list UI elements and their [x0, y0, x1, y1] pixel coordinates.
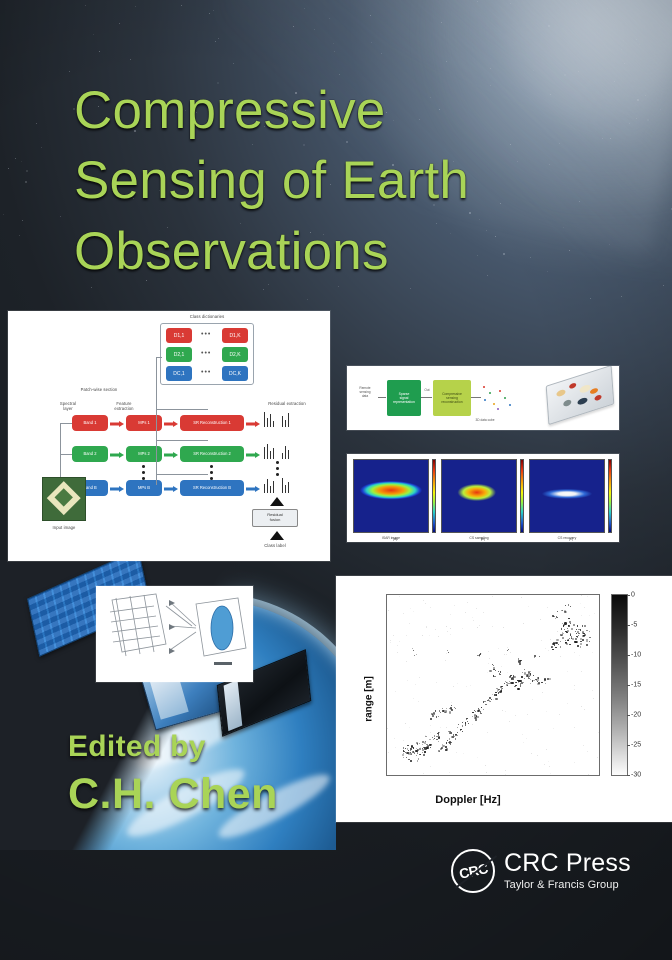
scatter-point: [509, 721, 510, 722]
scatter-point: [584, 709, 585, 710]
scatter-point: [446, 708, 447, 709]
x-tick-mark: [467, 775, 468, 776]
scatter-point: [420, 754, 421, 755]
scatter-point: [439, 732, 440, 733]
scatter-point: [455, 738, 456, 739]
scatter-point: [451, 736, 452, 737]
scatter-point: [594, 613, 595, 614]
flow-arrow-label: Out: [421, 388, 433, 392]
scatter-point: [458, 724, 459, 725]
scatter-point: [507, 672, 508, 673]
scatter-point: [541, 682, 542, 683]
arrow: [246, 452, 260, 457]
input-image-label: Input image: [36, 525, 92, 530]
colorbar-tick: -20: [631, 712, 641, 719]
scatter-point: [552, 615, 554, 617]
scatter-point: [436, 739, 437, 740]
section-label-residual: Residual extraction: [254, 401, 320, 406]
heatmap-group: CS recovery (c): [529, 459, 613, 533]
scatter-point: [449, 711, 451, 713]
scatter-point: [403, 740, 404, 741]
scatter-point: [457, 683, 458, 684]
scatter-point: [399, 596, 400, 597]
scatter-point: [574, 762, 575, 763]
arrow: [110, 486, 124, 491]
scatter-point: [532, 699, 533, 700]
scatter-point: [407, 680, 408, 681]
y-tick-mark: [386, 749, 387, 750]
scatter-point: [406, 757, 407, 758]
scatter-point: [475, 711, 476, 712]
scatter-point: [390, 642, 391, 643]
scatter-point: [408, 759, 409, 760]
scatter-point: [589, 637, 590, 638]
scatter-point: [562, 634, 563, 635]
scatter-point: [527, 714, 528, 715]
scatter-point: [422, 635, 423, 636]
arrow: [164, 486, 178, 491]
dict-cell: D1,1: [166, 328, 192, 343]
scatter-point: [430, 766, 431, 767]
flow-box-cs: Compressive sensing reconstruction: [433, 380, 471, 416]
scatter-point: [484, 701, 485, 702]
scatter-point: [430, 732, 431, 733]
scatter-point: [492, 694, 493, 695]
scatter-point: [575, 638, 577, 640]
y-tick-mark: [386, 698, 387, 699]
scatter-point: [441, 747, 443, 749]
scatter-point: [480, 713, 481, 714]
scatter-point: [534, 657, 535, 658]
scatter-point: [537, 679, 539, 681]
scatter-point: [423, 754, 425, 756]
scatter-point: [544, 681, 545, 682]
scatter-point: [414, 752, 415, 753]
scatter-point: [498, 648, 499, 649]
scatter-point: [576, 629, 577, 630]
scatter-point: [466, 718, 467, 719]
scatter-point: [578, 633, 579, 634]
scatter-point: [567, 628, 568, 629]
projection-geometry-drawing: [96, 586, 253, 682]
scatter-point: [504, 683, 505, 684]
scatter-point: [424, 751, 425, 752]
scatter-point: [445, 710, 447, 712]
scatter-point: [553, 728, 554, 729]
colorbar-tick: 0: [631, 592, 635, 599]
data-cube-visualization: [546, 366, 615, 425]
section-label-feature: Feature extraction: [100, 401, 148, 412]
scatter-point: [580, 629, 581, 630]
scatter-point: [541, 640, 542, 641]
scatter-point: [457, 732, 458, 733]
scatter-point: [523, 742, 524, 743]
scatter-point: [530, 683, 531, 684]
colorbar-tick: -25: [631, 742, 641, 749]
scatter-point: [449, 772, 450, 773]
scatter-point: [451, 705, 452, 706]
scatter-point: [569, 621, 570, 622]
connector-line: [156, 474, 208, 475]
y-tick-mark: [386, 775, 387, 776]
x-tick-mark: [573, 775, 574, 776]
scatter-point: [550, 639, 551, 640]
scatter-point: [395, 691, 396, 692]
scatter-point: [393, 635, 394, 636]
arrow: [421, 397, 432, 398]
colorbar-tick-mark: [627, 655, 630, 656]
scatter-point: [394, 738, 395, 739]
scatter-point: [485, 704, 486, 705]
ellipsis: •••: [201, 369, 211, 376]
scatter-point: [436, 717, 437, 718]
scatter-point: [477, 757, 478, 758]
scatter-point: [513, 678, 514, 679]
arrow: [378, 397, 386, 398]
colorbar-tick: -5: [631, 622, 637, 629]
class-dictionary-box: D1,1 D1,K ••• D2,1 D2,K ••• DC,1 DC,K ••…: [160, 323, 254, 385]
scatter-point: [440, 712, 441, 713]
scatter-point: [472, 724, 473, 725]
scatter-point: [500, 690, 502, 692]
heatmap-cs-sampling: CS sampling: [441, 459, 517, 533]
scatter-point: [537, 755, 538, 756]
projection-svg: [96, 586, 253, 682]
title-line-2: Sensing of Earth: [74, 146, 604, 216]
heatmap-row: ISAR image (a) CS sampling (b) CS recove…: [347, 454, 619, 542]
scatter-point: [449, 741, 451, 743]
scatter-point: [495, 670, 496, 671]
scatter-point: [547, 607, 548, 608]
x-axis-label: Doppler [Hz]: [336, 794, 600, 806]
scatter-point: [446, 653, 447, 654]
connector-line: [60, 454, 72, 455]
scatter-point: [450, 628, 451, 629]
scatter-point: [495, 692, 496, 693]
scatter-point: [592, 652, 593, 653]
scatter-point: [477, 716, 479, 718]
scatter-point: [467, 602, 468, 603]
scatter-point: [558, 644, 559, 645]
scatter-point: [570, 623, 571, 624]
scatter-point: [580, 603, 581, 604]
scatter-point: [503, 627, 504, 628]
publisher-name: CRC Press: [504, 851, 631, 876]
scatter-point: [570, 606, 571, 607]
panel-scatter-plot: range [m] -40-30-20-100102030-2002040 Do…: [336, 576, 672, 822]
scatter-point: [399, 641, 400, 642]
scatter-point: [480, 711, 481, 712]
scatter-point: [422, 744, 423, 745]
scatter-point: [568, 639, 569, 640]
scatter-point: [567, 671, 568, 672]
scatter-point: [450, 744, 451, 745]
block-sr-2: SR Reconstruction 2: [180, 446, 244, 462]
scatter-point: [406, 635, 407, 636]
arrow-down: [270, 497, 284, 506]
scatter-point: [483, 701, 484, 702]
scatter-point: [538, 729, 539, 730]
output-label: Class label: [252, 543, 298, 548]
scatter-point: [487, 732, 488, 733]
scatter-point: [490, 701, 491, 702]
scatter-point: [477, 710, 478, 711]
scatter-point: [429, 635, 430, 636]
flow-box-sparse: Sparse signal representation: [387, 380, 421, 416]
scatter-point: [577, 631, 578, 632]
scatter-point: [544, 678, 546, 680]
scatter-point: [463, 753, 464, 754]
scatter-point: [434, 735, 435, 736]
scatter-point: [414, 655, 415, 656]
publisher-group: Taylor & Francis Group: [504, 879, 631, 891]
scatter-point: [397, 645, 398, 646]
scatter-point: [524, 678, 525, 679]
scatter-point: [407, 745, 408, 746]
scatter-point: [454, 605, 455, 606]
scatter-point: [582, 625, 583, 626]
arrow: [110, 421, 124, 426]
scatter-point: [419, 677, 420, 678]
scatter-point: [589, 615, 590, 616]
scatter-point: [436, 682, 437, 683]
page-title: Compressive Sensing of Earth Observation…: [74, 76, 604, 287]
scatter-point: [488, 651, 489, 652]
scatter-point: [597, 757, 598, 758]
scatter-point: [505, 770, 506, 771]
scatter-point: [434, 738, 435, 739]
scatter-point: [446, 742, 447, 743]
scatter-point: [417, 751, 418, 752]
scatter-point: [477, 627, 478, 628]
scatter-point: [416, 654, 417, 655]
scatter-point: [405, 723, 406, 724]
scatter-point: [448, 652, 449, 653]
scatter-point: [402, 754, 404, 756]
scatter-point: [483, 612, 484, 613]
arrow: [164, 421, 178, 426]
scatter-point: [445, 749, 446, 750]
scatter-point: [593, 698, 594, 699]
scatter-point: [582, 639, 584, 641]
scatter-point: [515, 715, 516, 716]
scatter-point: [462, 731, 463, 732]
scatter-point: [409, 623, 410, 624]
section-label-spectral: Spectral layer: [46, 401, 90, 412]
ellipsis: •••: [201, 350, 211, 357]
scatter-point: [451, 702, 452, 703]
scatter-point: [517, 688, 519, 690]
crc-mark-text: CRC: [457, 860, 489, 882]
y-tick-mark: [386, 672, 387, 673]
scatter-point: [475, 719, 477, 721]
y-tick-mark: [386, 595, 387, 596]
heatmap-sublabel: (b): [441, 537, 525, 541]
scatter-point: [417, 760, 418, 761]
scatter-point: [540, 619, 541, 620]
scatter-point: [505, 774, 506, 775]
scatter-point: [465, 724, 466, 725]
arrow: [110, 452, 124, 457]
scatter-point: [462, 722, 463, 723]
scatter-point: [457, 727, 458, 728]
scatter-point: [416, 755, 417, 756]
scatter-point: [523, 682, 524, 683]
scatter-point: [472, 712, 473, 713]
scatter-point: [423, 600, 424, 601]
scatter-point: [559, 714, 560, 715]
scatter-point: [581, 615, 582, 616]
block-band-2: Band 2: [72, 446, 108, 462]
scatter-point: [426, 626, 427, 627]
scatter-point: [417, 753, 418, 754]
scatter-point: [430, 725, 431, 726]
colorbar-tick-mark: [627, 685, 630, 686]
scatter-point: [586, 630, 587, 631]
scatter-point: [502, 710, 503, 711]
panel-heatmaps: ISAR image (a) CS sampling (b) CS recove…: [347, 454, 619, 542]
scatter-point: [552, 649, 553, 650]
dict-cell: D2,K: [222, 347, 248, 362]
scatter-point: [500, 674, 501, 675]
block-band-1: Band 1: [72, 415, 108, 431]
scatter-point: [449, 738, 450, 739]
scatter-point: [561, 635, 562, 636]
scatter-point: [587, 596, 588, 597]
scatter-point: [589, 641, 590, 642]
scatter-point: [580, 641, 581, 642]
colorbar: [520, 459, 524, 533]
scatter-point: [502, 688, 503, 689]
scatter-point: [456, 752, 457, 753]
scatter-point: [545, 683, 546, 684]
scatter-point: [584, 607, 585, 608]
scatter-point: [581, 706, 582, 707]
scatter-point: [571, 628, 573, 630]
arrow: [246, 421, 260, 426]
scatter-point: [457, 735, 458, 736]
scatter-point: [550, 773, 551, 774]
scatter-point: [545, 648, 546, 649]
credits: Edited by C.H. Chen: [68, 730, 278, 819]
scatter-point: [582, 631, 584, 633]
scatter-point: [515, 682, 516, 683]
scatter-point: [413, 650, 414, 651]
section-label-patch: Patch-wise section: [64, 387, 134, 392]
scatter-point: [429, 744, 430, 745]
scatter-point: [587, 751, 588, 752]
scatter-point: [493, 665, 494, 666]
scatter-point: [530, 673, 531, 674]
scatter-point: [433, 739, 434, 740]
scatter-point: [418, 701, 419, 702]
scatter-point: [580, 646, 581, 647]
heatmap-sublabel: (a): [353, 537, 437, 541]
book-cover: Compressive Sensing of Earth Observation…: [0, 0, 672, 960]
scatter-point: [588, 774, 589, 775]
scatter-point: [451, 732, 452, 733]
residual-plot: [264, 407, 290, 427]
scatter-point: [557, 631, 558, 632]
connector-line: [156, 409, 208, 410]
connector-line: [156, 440, 208, 441]
scatter-point: [395, 747, 396, 748]
edited-by-label: Edited by: [68, 730, 278, 764]
scatter-point: [579, 655, 580, 656]
flow-caption: 3D data cube: [451, 418, 519, 422]
scatter-point: [520, 685, 521, 686]
scatter-point: [388, 610, 389, 611]
scatter-point: [438, 736, 440, 738]
scatter-point: [397, 652, 398, 653]
scatter-point: [415, 684, 416, 685]
connector-line: [156, 357, 157, 485]
scatter-point: [413, 698, 414, 699]
scatter-point: [523, 623, 524, 624]
editor-name: C.H. Chen: [68, 770, 278, 819]
scatter-point: [422, 752, 423, 753]
block-diagram: Class dictionaries D1,1 D1,K ••• D2,1 D2…: [8, 311, 330, 561]
scatter-point: [581, 671, 582, 672]
scatter-point: [453, 686, 454, 687]
residual-plot: [264, 439, 290, 459]
y-axis-label: range [m]: [363, 676, 374, 722]
scatter-point: [546, 749, 547, 750]
scatter-point: [522, 672, 523, 673]
panel-projection-drawing: [96, 586, 253, 682]
colorbar-tick: -15: [631, 682, 641, 689]
scatter-point: [506, 654, 507, 655]
scatter-point: [423, 773, 424, 774]
scatter-point: [492, 626, 493, 627]
ellipsis-vertical: [142, 465, 145, 483]
scatter-point: [507, 650, 508, 651]
crc-roundel-icon: CRC: [451, 849, 495, 893]
scatter-point: [500, 671, 501, 672]
scatter-point: [519, 663, 521, 665]
scatter-point: [599, 696, 600, 697]
scatter-point: [584, 625, 586, 627]
scatter-point: [577, 645, 578, 646]
scatter-point: [446, 626, 447, 627]
scatter-point: [533, 680, 534, 681]
scatter-point: [437, 733, 438, 734]
publisher-text: CRC Press Taylor & Francis Group: [504, 851, 631, 891]
scatter-point: [480, 653, 481, 654]
heatmap-group: ISAR image (a): [353, 459, 437, 533]
scatter-point: [430, 607, 431, 608]
scatter-point: [530, 675, 531, 676]
scatter-point: [390, 640, 391, 641]
scatter-point: [555, 647, 556, 648]
scatter-point: [481, 707, 482, 708]
ellipsis: •••: [201, 331, 211, 338]
fusion-box: Residual fusion: [252, 509, 298, 527]
scatter-point: [426, 747, 428, 749]
scatter-point: [493, 699, 494, 700]
scatter-point: [424, 747, 426, 749]
scatter-point: [438, 716, 439, 717]
scatter-point: [522, 734, 523, 735]
scatter-point: [561, 628, 562, 629]
scatter-point: [405, 748, 406, 749]
colorbar-tick-mark: [627, 715, 630, 716]
scatter-point: [472, 716, 473, 717]
scatter-point: [539, 656, 540, 657]
title-line-3: Observations: [74, 217, 604, 287]
dict-cell: DC,1: [166, 366, 192, 381]
scatter-point: [565, 605, 566, 606]
